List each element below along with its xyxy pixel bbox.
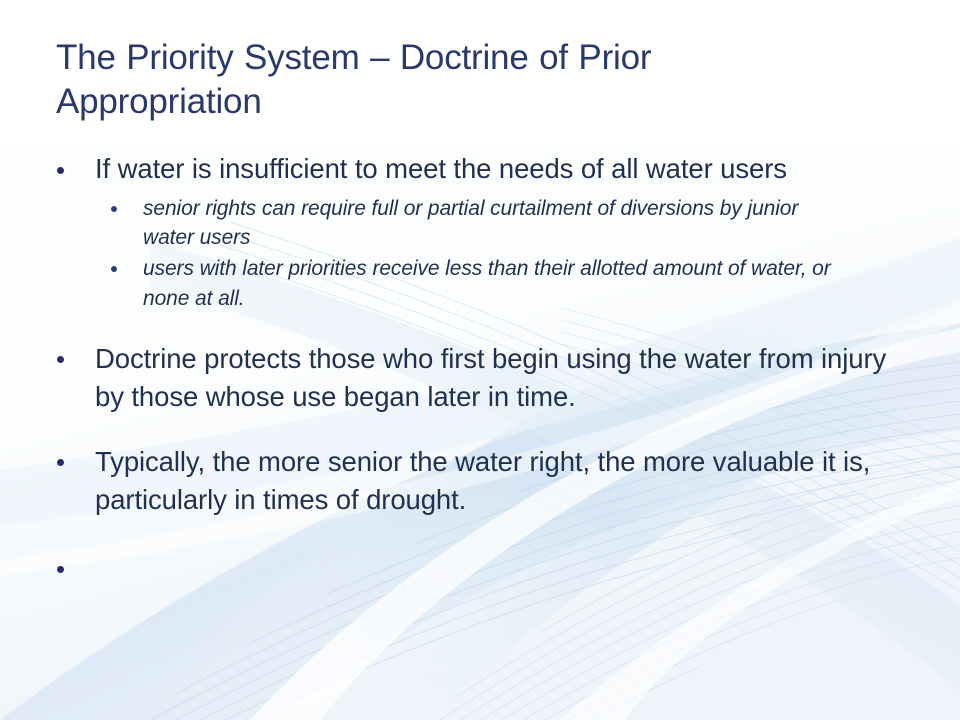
bullet-text: If water is insufficient to meet the nee… [95,153,787,184]
bullet-item-2: Doctrine protects those who first begin … [0,340,960,417]
sub-bullet-item-1: senior rights can require full or partia… [95,194,960,254]
bullet-list-level-1: If water is insufficient to meet the nee… [0,150,960,584]
bullet-marker-icon [57,459,64,466]
bullet-marker-icon [57,566,64,573]
bullet-item-4-empty [0,550,960,584]
title-placeholder: The Priority System – Doctrine of Prior … [56,36,856,124]
sub-bullet-text: senior rights can require full or partia… [143,197,798,250]
page-title: The Priority System – Doctrine of Prior … [56,36,856,124]
sub-bullet-text: users with later priorities receive less… [143,257,831,310]
bullet-item-1: If water is insufficient to meet the nee… [0,150,960,189]
sub-bullet-item-2: users with later priorities receive less… [95,254,960,314]
bullet-marker-icon [57,167,64,174]
sub-bullet-marker-icon [111,266,117,272]
bullet-text: Typically, the more senior the water rig… [95,446,870,516]
slide-canvas: The Priority System – Doctrine of Prior … [0,0,960,720]
bullet-marker-icon [57,356,64,363]
slide-content: The Priority System – Doctrine of Prior … [0,0,960,720]
bullet-list-level-2: senior rights can require full or partia… [95,194,960,314]
bullet-text: Doctrine protects those who first begin … [95,343,886,413]
bullet-item-3: Typically, the more senior the water rig… [0,443,960,520]
body-placeholder: If water is insufficient to meet the nee… [0,150,960,590]
sub-bullet-marker-icon [111,206,117,212]
